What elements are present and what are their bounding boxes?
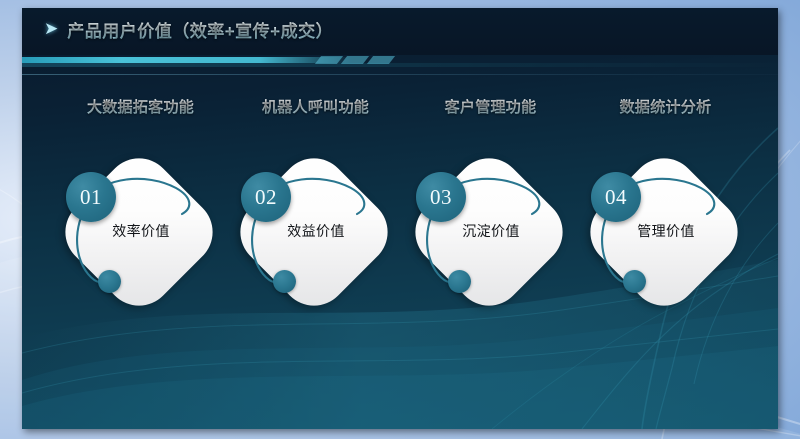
card-label: 沉淀价值 — [400, 221, 582, 241]
card-dot-badge — [98, 270, 121, 293]
card-number-badge: 02 — [241, 172, 291, 222]
slide-canvas: ➤ 产品用户价值（效率+宣传+成交） 大数据拓客功能 机器人呼叫功能 客户管理功… — [22, 8, 778, 429]
slide-frame: ➤ 产品用户价值（效率+宣传+成交） 大数据拓客功能 机器人呼叫功能 客户管理功… — [0, 0, 800, 439]
value-card-3[interactable]: 03 沉淀价值 — [400, 158, 582, 308]
card-dot-badge — [273, 270, 296, 293]
card-number: 04 — [605, 185, 627, 210]
card-number-badge: 03 — [416, 172, 466, 222]
card-label: 效率价值 — [50, 221, 232, 241]
card-number-badge: 01 — [66, 172, 116, 222]
card-dot-badge — [448, 270, 471, 293]
card-label: 管理价值 — [575, 221, 757, 241]
card-number: 02 — [255, 185, 277, 210]
card-label: 效益价值 — [225, 221, 407, 241]
value-card-row: 01 效率价值 02 效益价值 — [22, 8, 778, 429]
card-number-badge: 04 — [591, 172, 641, 222]
card-dot-badge — [623, 270, 646, 293]
value-card-1[interactable]: 01 效率价值 — [50, 158, 232, 308]
value-card-4[interactable]: 04 管理价值 — [575, 158, 757, 308]
card-number: 03 — [430, 185, 452, 210]
card-number: 01 — [80, 185, 102, 210]
value-card-2[interactable]: 02 效益价值 — [225, 158, 407, 308]
